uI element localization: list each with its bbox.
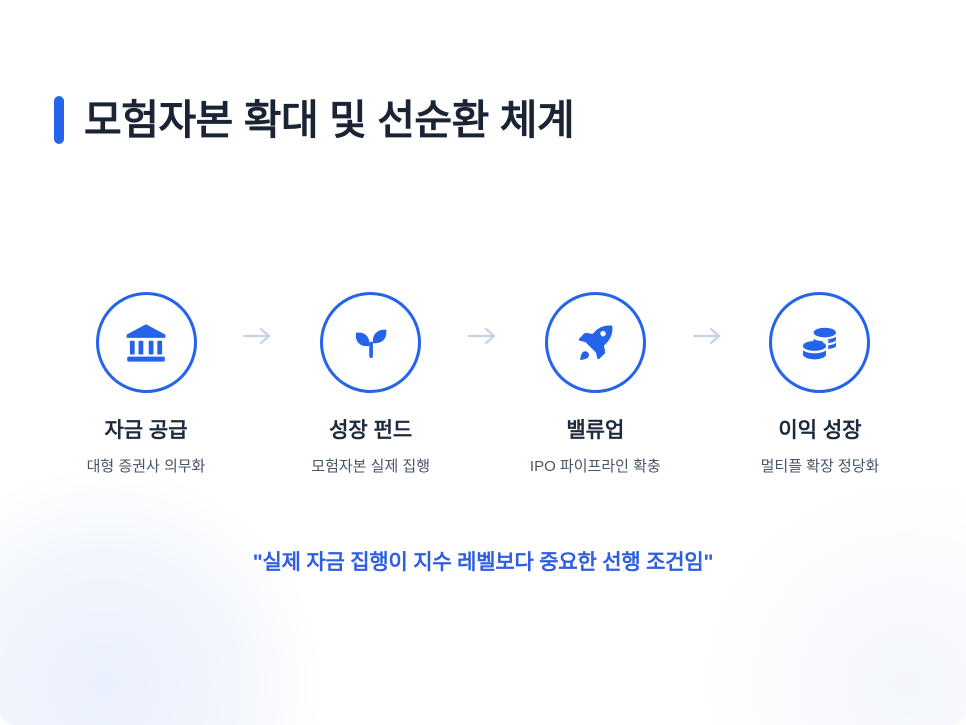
flow-step-icon-circle <box>320 292 421 393</box>
value-chain-flow: 자금 공급 대형 증권사 의무화 성장 펀드 모험 <box>63 292 903 476</box>
flow-step-label: 밸류업 <box>566 419 624 443</box>
flow-step-label: 자금 공급 <box>104 419 187 443</box>
seedling-icon <box>348 320 394 366</box>
flow-step-funding[interactable]: 자금 공급 대형 증권사 의무화 <box>63 292 229 476</box>
flow-step-label: 성장 펀드 <box>329 419 412 443</box>
rocket-icon <box>573 321 617 365</box>
coins-icon <box>798 321 842 365</box>
flow-step-sublabel: 대형 증권사 의무화 <box>87 458 206 476</box>
background-glow-left <box>0 470 320 725</box>
flow-step-earnings-growth[interactable]: 이익 성장 멀티플 확장 정당화 <box>737 292 903 476</box>
flow-step-icon-circle <box>769 292 870 393</box>
flow-step-sublabel: IPO 파이프라인 확충 <box>530 458 661 476</box>
flow-step-sublabel: 멀티플 확장 정당화 <box>761 458 880 476</box>
slide-canvas: 모험자본 확대 및 선순환 체계 자금 공급 대형 증권사 의무화 <box>0 0 966 725</box>
flow-step-label: 이익 성장 <box>778 419 861 443</box>
background-glow-right <box>696 475 966 725</box>
flow-step-icon-circle <box>545 292 646 393</box>
flow-step-sublabel: 모험자본 실제 집행 <box>311 458 430 476</box>
arrow-right-icon <box>686 325 730 347</box>
title-accent-bar <box>54 96 64 144</box>
flow-step-icon-circle <box>96 292 197 393</box>
title-text: 모험자본 확대 및 선순환 체계 <box>84 100 574 141</box>
arrow-right-icon <box>236 325 280 347</box>
bank-icon <box>123 320 169 366</box>
flow-step-growth-fund[interactable]: 성장 펀드 모험자본 실제 집행 <box>288 292 454 476</box>
page-title: 모험자본 확대 및 선순환 체계 <box>54 96 574 144</box>
flow-step-valueup[interactable]: 밸류업 IPO 파이프라인 확충 <box>512 292 678 476</box>
footnote-quote: "실제 자금 집행이 지수 레벨보다 중요한 선행 조건임" <box>0 546 966 576</box>
arrow-right-icon <box>461 325 505 347</box>
